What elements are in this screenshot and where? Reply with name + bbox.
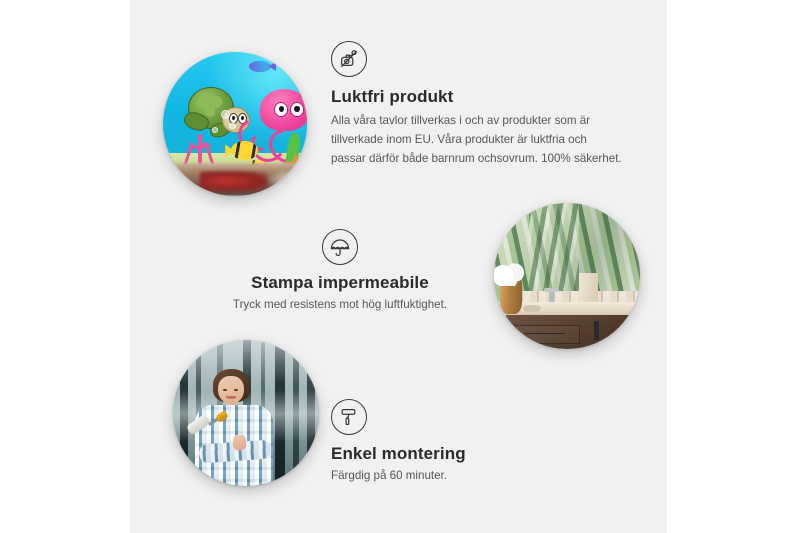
feature-block-odourless: Luktfri produkt Alla våra tavlor tillver… [331, 41, 631, 169]
woman-figure [193, 369, 284, 486]
feature-block-waterproof: Stampa impermeabile Tryck med resistens … [205, 229, 475, 315]
no-fragrance-icon [331, 41, 367, 77]
underwater-cartoon-photo [163, 52, 307, 196]
bubble-icon [221, 110, 230, 119]
woman-with-roller-photo [173, 340, 319, 486]
white-flowers [494, 263, 526, 286]
product-feature-banner: Luktfri produkt Alla våra tavlor tillver… [0, 0, 800, 533]
bubble-icon [212, 127, 218, 133]
feature-title: Stampa impermeabile [205, 272, 475, 293]
wood-cabinet [506, 315, 640, 349]
paint-roller-icon [331, 399, 367, 435]
feature-block-easy-mounting: Enkel montering Färgdig på 60 minuter. [331, 399, 611, 486]
feature-body: Färgdig på 60 minuter. [331, 467, 611, 486]
blue-fish-illustration [249, 61, 271, 73]
feature-body: Tryck med resistens mot hög luftfuktighe… [205, 296, 475, 315]
yellow-fish-illustration [231, 141, 258, 160]
room-photo-strip [163, 163, 307, 196]
feature-title: Enkel montering [331, 443, 611, 464]
bathroom-vanity-photo [494, 203, 640, 349]
umbrella-icon [322, 229, 358, 265]
feature-body: Alla våra tavlor tillverkas i och av pro… [331, 112, 623, 168]
feature-title: Luktfri produkt [331, 86, 631, 107]
